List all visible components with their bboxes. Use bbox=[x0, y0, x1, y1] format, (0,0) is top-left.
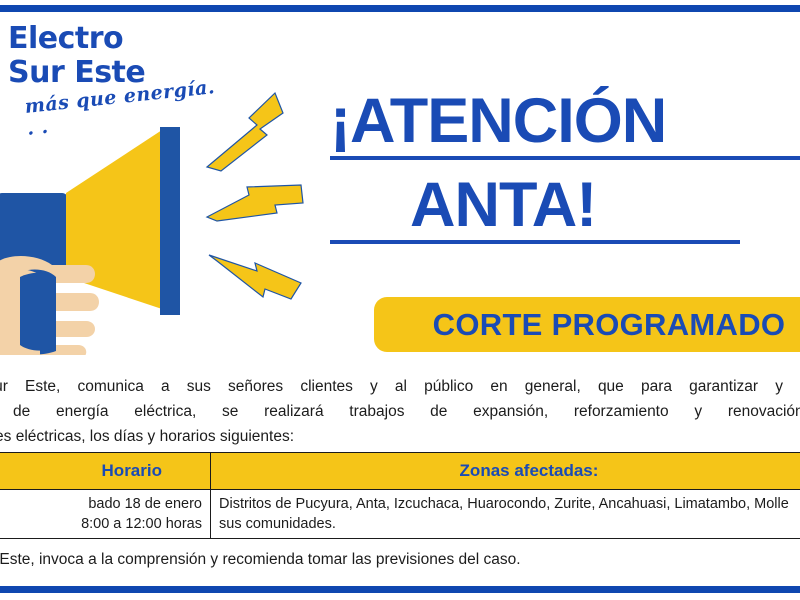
top-blue-rule bbox=[0, 5, 800, 12]
page-title: ¡ATENCIÓN ANTA! bbox=[330, 88, 800, 244]
lightning-bolt-icon bbox=[207, 93, 283, 171]
table-header-row: Horario Zonas afectadas: bbox=[0, 453, 800, 490]
logo-line-1: Electro bbox=[8, 22, 223, 56]
horario-date: bado 18 de enero bbox=[0, 494, 202, 514]
horario-time: 8:00 a 12:00 horas bbox=[0, 514, 202, 534]
headline-line-2: ANTA! bbox=[330, 172, 740, 244]
intro-paragraph: o Sur Este, comunica a sus señores clien… bbox=[0, 374, 800, 449]
outage-notice-poster: Electro Sur Este más que energía. . . ¡A… bbox=[0, 0, 800, 600]
hand-icon bbox=[0, 256, 99, 355]
intro-line-2: istro de energía eléctrica, se realizará… bbox=[0, 399, 800, 424]
lightning-bolt-icon bbox=[207, 185, 303, 221]
megaphone-icon bbox=[0, 125, 234, 355]
zonas-line-1: Distritos de Pucyura, Anta, Izcuchaca, H… bbox=[219, 494, 800, 514]
zonas-line-2: sus comunidades. bbox=[219, 514, 800, 534]
cell-zonas: Distritos de Pucyura, Anta, Izcuchaca, H… bbox=[211, 490, 800, 539]
closing-paragraph: o Sur Este, invoca a la comprensión y re… bbox=[0, 548, 800, 572]
intro-line-3: aciones eléctricas, los días y horarios … bbox=[0, 428, 294, 445]
column-header-zonas: Zonas afectadas: bbox=[211, 453, 800, 490]
intro-line-1: o Sur Este, comunica a sus señores clien… bbox=[0, 374, 800, 399]
lightning-bolt-icon bbox=[209, 255, 301, 299]
cell-horario: bado 18 de enero 8:00 a 12:00 horas bbox=[0, 490, 211, 539]
lightning-bolt-group bbox=[205, 85, 325, 305]
company-logo: Electro Sur Este más que energía. . . bbox=[8, 22, 223, 140]
headline-line-1: ¡ATENCIÓN bbox=[330, 88, 800, 160]
bottom-blue-rule bbox=[0, 586, 800, 593]
column-header-horario: Horario bbox=[0, 453, 211, 490]
corte-programado-label: CORTE PROGRAMADO bbox=[433, 307, 786, 343]
table-row: bado 18 de enero 8:00 a 12:00 horas Dist… bbox=[0, 490, 800, 539]
corte-programado-banner: CORTE PROGRAMADO bbox=[374, 297, 800, 352]
outage-schedule-table: Horario Zonas afectadas: bado 18 de ener… bbox=[0, 452, 800, 539]
